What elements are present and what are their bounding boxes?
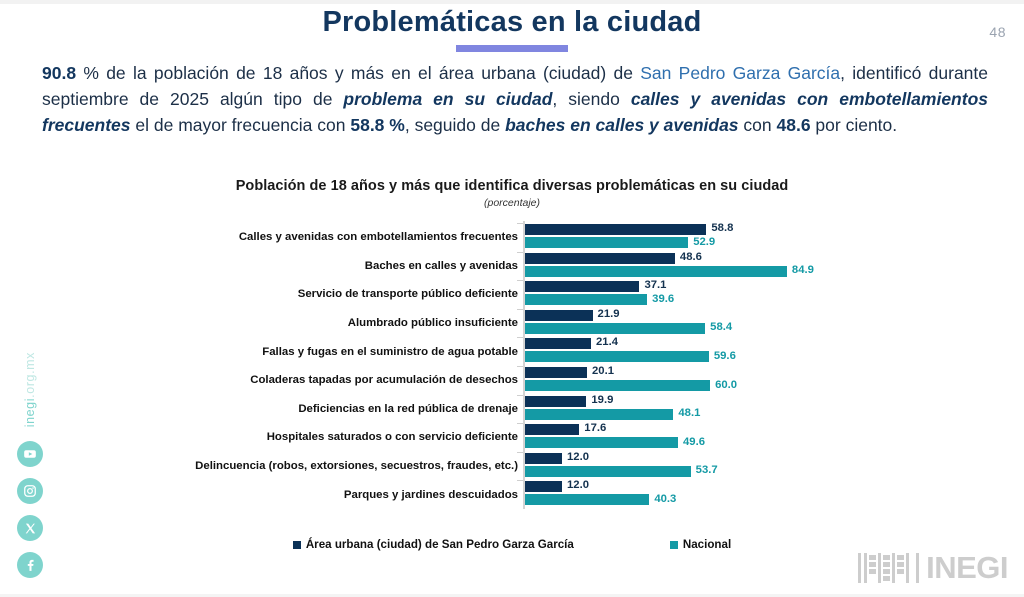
legend-label-local: Área urbana (ciudad) de San Pedro Garza … [306, 538, 574, 551]
axis-tick [517, 423, 523, 424]
inegi-abacus-mark [858, 553, 920, 583]
chart-value-local: 12.0 [567, 479, 589, 491]
intro-text-1: % de la población de 18 años y más en el… [76, 63, 640, 83]
chart-bar-nacional[interactable] [525, 323, 705, 334]
chart-value-nacional: 84.9 [792, 264, 814, 276]
chart-value-nacional: 60.0 [715, 379, 737, 391]
chart-value-nacional: 59.6 [714, 350, 736, 362]
intro-paragraph: 90.8 % de la población de 18 años y más … [42, 60, 988, 138]
chart-row: Coladeras tapadas por acumulación de des… [0, 366, 1024, 395]
chart-value-nacional: 49.6 [683, 436, 705, 448]
chart-value-nacional: 40.3 [654, 493, 676, 505]
chart-category-label: Delincuencia (robos, extorsiones, secues… [195, 460, 518, 472]
intro-figure-2: 58.8 % [350, 115, 404, 135]
legend-swatch-nacional [670, 541, 678, 549]
chart-row: Baches en calles y avenidas48.684.9 [0, 252, 1024, 281]
chart-legend: Área urbana (ciudad) de San Pedro Garza … [0, 538, 1024, 551]
intro-text-6: con [739, 115, 777, 135]
chart-category-label: Calles y avenidas con embotellamientos f… [239, 231, 518, 243]
chart-row: Parques y jardines descuidados12.040.3 [0, 480, 1024, 509]
axis-tick [517, 309, 523, 310]
chart-bar-nacional[interactable] [525, 494, 649, 505]
axis-tick [517, 452, 523, 453]
intro-emphasis-3: baches en calles y avenidas [505, 115, 738, 135]
top-divider [0, 0, 1024, 4]
chart-subtitle: (porcentaje) [0, 197, 1024, 209]
title-accent-rule [456, 45, 568, 52]
intro-emphasis-1: problema en su ciudad [343, 89, 552, 109]
chart-category-label: Hospitales saturados o con servicio defi… [267, 431, 518, 443]
chart-value-nacional: 39.6 [652, 293, 674, 305]
chart-bar-nacional[interactable] [525, 294, 647, 305]
intro-headline-figure: 90.8 [42, 63, 76, 83]
chart-value-nacional: 52.9 [693, 236, 715, 248]
chart-category-label: Fallas y fugas en el suministro de agua … [262, 346, 518, 358]
chart-title: Población de 18 años y más que identific… [0, 178, 1024, 194]
legend-item-local[interactable]: Área urbana (ciudad) de San Pedro Garza … [293, 538, 574, 551]
chart-value-local: 48.6 [680, 251, 702, 263]
chart-value-local: 19.9 [591, 394, 613, 406]
chart-bar-nacional[interactable] [525, 266, 787, 277]
chart-value-local: 17.6 [584, 422, 606, 434]
chart-value-local: 58.8 [711, 222, 733, 234]
chart-row: Delincuencia (robos, extorsiones, secues… [0, 452, 1024, 481]
chart-value-local: 12.0 [567, 451, 589, 463]
title-block: Problemáticas en la ciudad [0, 6, 1024, 52]
chart-value-local: 37.1 [644, 279, 666, 291]
chart-category-label: Coladeras tapadas por acumulación de des… [250, 374, 518, 386]
chart-row: Fallas y fugas en el suministro de agua … [0, 337, 1024, 366]
facebook-icon[interactable] [17, 552, 43, 578]
chart: Población de 18 años y más que identific… [0, 178, 1024, 513]
chart-value-nacional: 58.4 [710, 321, 732, 333]
chart-row: Deficiencias en la red pública de drenaj… [0, 395, 1024, 424]
intro-place-name: San Pedro Garza García [640, 63, 840, 83]
chart-bar-nacional[interactable] [525, 237, 688, 248]
axis-tick [517, 395, 523, 396]
axis-tick [517, 337, 523, 338]
chart-bar-local[interactable] [525, 481, 562, 492]
chart-value-local: 21.4 [596, 336, 618, 348]
chart-value-nacional: 48.1 [678, 407, 700, 419]
legend-swatch-local [293, 541, 301, 549]
chart-category-label: Servicio de transporte público deficient… [298, 288, 518, 300]
axis-tick [517, 280, 523, 281]
chart-row: Alumbrado público insuficiente21.958.4 [0, 309, 1024, 338]
axis-tick [517, 480, 523, 481]
chart-row: Servicio de transporte público deficient… [0, 280, 1024, 309]
chart-bar-local[interactable] [525, 310, 593, 321]
chart-bar-local[interactable] [525, 281, 639, 292]
intro-text-7: por ciento. [811, 115, 898, 135]
chart-bar-local[interactable] [525, 338, 591, 349]
chart-bar-local[interactable] [525, 396, 586, 407]
chart-plot-area: Calles y avenidas con embotellamientos f… [0, 221, 1024, 513]
page-title: Problemáticas en la ciudad [0, 6, 1024, 39]
chart-value-local: 21.9 [598, 308, 620, 320]
legend-item-nacional[interactable]: Nacional [670, 538, 731, 551]
chart-row: Hospitales saturados o con servicio defi… [0, 423, 1024, 452]
chart-row: Calles y avenidas con embotellamientos f… [0, 223, 1024, 252]
chart-bar-nacional[interactable] [525, 380, 710, 391]
inegi-wordmark: INEGI [926, 552, 1008, 583]
chart-bar-nacional[interactable] [525, 466, 691, 477]
chart-bar-local[interactable] [525, 253, 675, 264]
intro-figure-3: 48.6 [777, 115, 811, 135]
chart-category-label: Baches en calles y avenidas [365, 260, 518, 272]
axis-tick [517, 252, 523, 253]
chart-value-local: 20.1 [592, 365, 614, 377]
inegi-logo: INEGI [858, 552, 1008, 583]
slide-canvas: 48 Problemáticas en la ciudad 90.8 % de … [0, 0, 1024, 597]
chart-category-label: Alumbrado público insuficiente [348, 317, 518, 329]
axis-tick [517, 366, 523, 367]
chart-bar-local[interactable] [525, 224, 706, 235]
intro-text-4: el de mayor frecuencia con [131, 115, 351, 135]
chart-value-nacional: 53.7 [696, 464, 718, 476]
chart-category-label: Deficiencias en la red pública de drenaj… [298, 403, 518, 415]
chart-bar-local[interactable] [525, 367, 587, 378]
axis-tick [517, 223, 523, 224]
chart-category-label: Parques y jardines descuidados [344, 489, 518, 501]
chart-bar-nacional[interactable] [525, 351, 709, 362]
chart-bar-nacional[interactable] [525, 409, 673, 420]
intro-text-3: , siendo [552, 89, 630, 109]
legend-label-nacional: Nacional [683, 538, 731, 551]
chart-bar-nacional[interactable] [525, 437, 678, 448]
intro-text-5: , seguido de [405, 115, 505, 135]
chart-bar-local[interactable] [525, 424, 579, 435]
chart-bar-local[interactable] [525, 453, 562, 464]
